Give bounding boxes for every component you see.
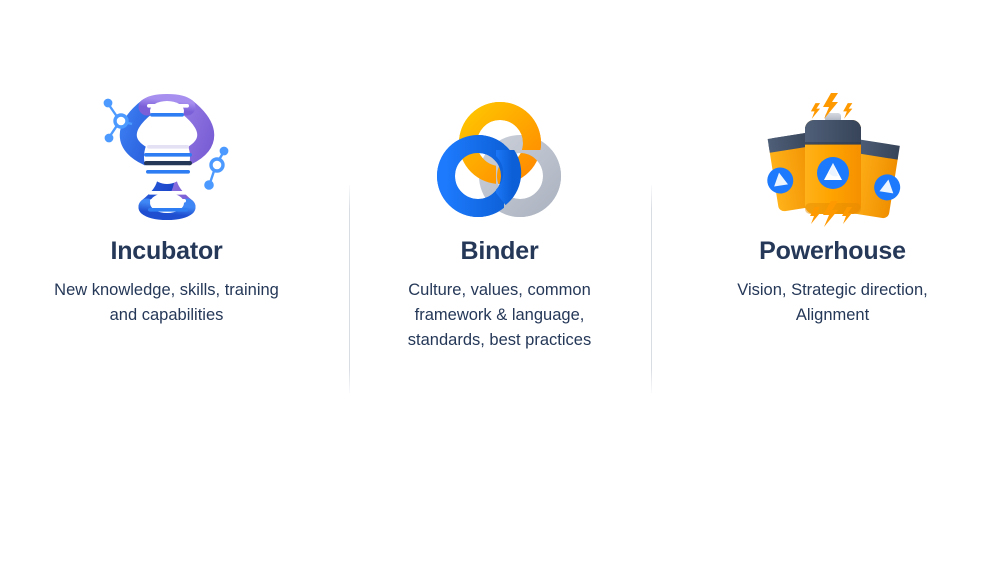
battery-power-icon (748, 86, 918, 236)
description-line: New knowledge, skills, training (37, 278, 297, 303)
column-binder: Binder Culture, values, common framework… (333, 86, 666, 353)
column-description: New knowledge, skills, training and capa… (37, 278, 297, 328)
slide-canvas: Incubator New knowledge, skills, trainin… (0, 0, 999, 562)
description-line: Vision, Strategic direction, (703, 278, 963, 303)
interlocking-rings-icon (415, 86, 585, 236)
description-line: framework & language, (370, 303, 630, 328)
three-column-layout: Incubator New knowledge, skills, trainin… (0, 86, 999, 396)
column-powerhouse: Powerhouse Vision, Strategic direction, … (666, 86, 999, 328)
description-line: standards, best practices (370, 328, 630, 353)
description-line: Culture, values, common (370, 278, 630, 303)
column-incubator: Incubator New knowledge, skills, trainin… (0, 86, 333, 328)
column-description: Vision, Strategic direction, Alignment (703, 278, 963, 328)
column-title: Binder (461, 237, 539, 266)
column-title: Incubator (110, 237, 222, 266)
column-description: Culture, values, common framework & lang… (370, 278, 630, 353)
dna-helix-icon (82, 86, 252, 236)
column-title: Powerhouse (759, 237, 906, 266)
column-divider (349, 185, 350, 393)
column-divider (651, 185, 652, 393)
description-line: Alignment (703, 303, 963, 328)
description-line: and capabilities (37, 303, 297, 328)
